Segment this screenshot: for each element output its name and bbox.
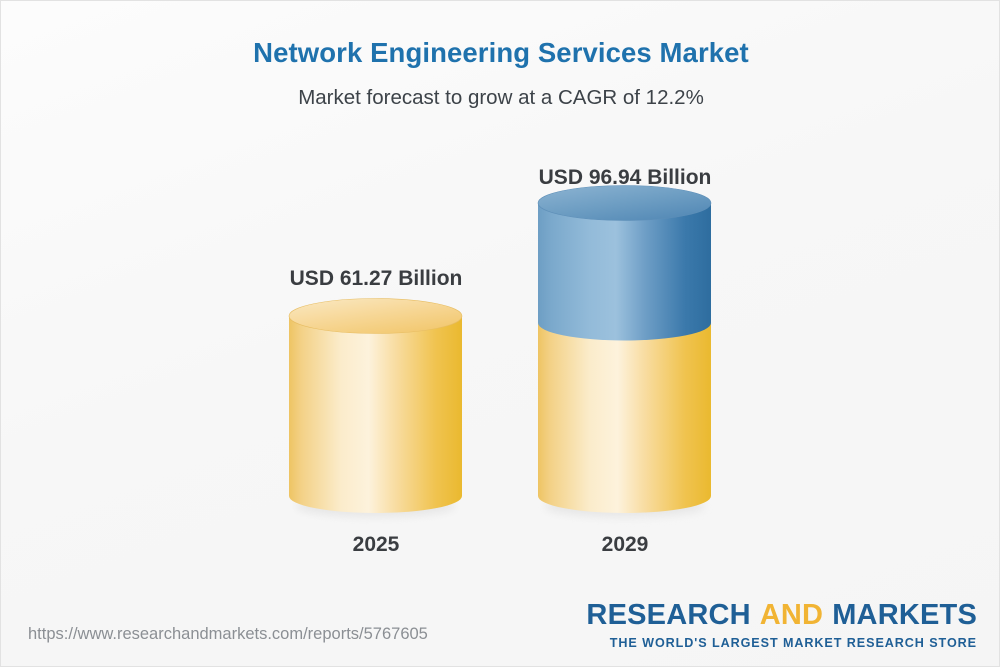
bar-body-base-2029: [538, 323, 711, 513]
bar-cylinder-2025: [289, 299, 462, 518]
bar-cylinder-2029: [538, 186, 711, 518]
bar-top-cap-2029: [538, 186, 711, 221]
bar-body-2025: [289, 316, 462, 513]
category-label-2025: 2025: [276, 533, 476, 557]
value-label-2025: USD 61.27 Billion: [216, 267, 536, 291]
bar-top-cap-2025: [289, 299, 462, 334]
cylinder-bar-chart-svg: [1, 1, 1000, 667]
brand-word-and: AND: [751, 599, 832, 631]
brand-logo: RESEARCHANDMARKETS THE WORLD'S LARGEST M…: [586, 601, 977, 650]
value-label-2029: USD 96.94 Billion: [465, 166, 785, 190]
brand-wordmark: RESEARCHANDMARKETS: [586, 601, 977, 630]
chart-plot-area: USD 61.27 Billion USD 96.94 Billion 2025…: [1, 1, 1000, 667]
brand-tagline: THE WORLD'S LARGEST MARKET RESEARCH STOR…: [586, 630, 977, 650]
bar-body-growth-2029: [538, 203, 711, 341]
chart-footer: https://www.researchandmarkets.com/repor…: [1, 594, 1000, 666]
category-label-2029: 2029: [525, 533, 725, 557]
brand-word-markets: MARKETS: [832, 599, 977, 631]
brand-word-research: RESEARCH: [586, 599, 750, 631]
source-url-link[interactable]: https://www.researchandmarkets.com/repor…: [28, 625, 428, 644]
chart-card: Network Engineering Services Market Mark…: [0, 0, 1000, 667]
